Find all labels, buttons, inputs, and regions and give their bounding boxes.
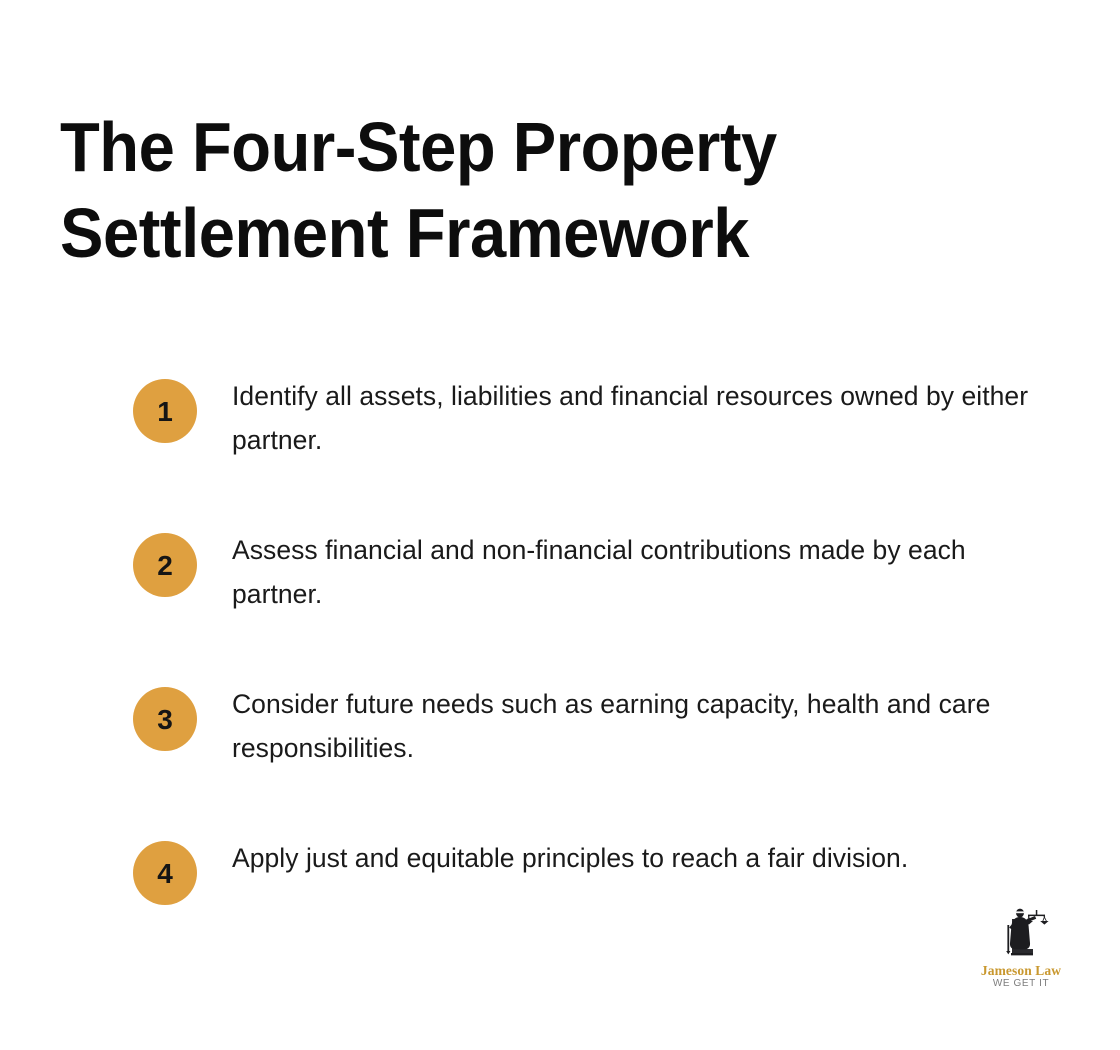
- title-block: The Four-Step Property Settlement Framew…: [60, 104, 880, 276]
- step-number-label: 1: [157, 398, 173, 426]
- steps-list: 1 Identify all assets, liabilities and f…: [133, 372, 1063, 905]
- step-description: Assess financial and non-financial contr…: [232, 526, 1063, 616]
- logo-tagline: WE GET IT: [975, 978, 1067, 990]
- step-description: Apply just and equitable principles to r…: [232, 834, 1063, 880]
- brand-logo: Jameson Law WE GET IT: [975, 905, 1067, 990]
- logo-wordmark: Jameson Law: [975, 963, 1067, 978]
- page-title: The Four-Step Property Settlement Framew…: [60, 104, 823, 276]
- list-item: 4 Apply just and equitable principles to…: [133, 834, 1063, 905]
- step-number-badge: 4: [133, 841, 197, 905]
- step-number-badge: 2: [133, 533, 197, 597]
- step-number-badge: 1: [133, 379, 197, 443]
- step-number-badge: 3: [133, 687, 197, 751]
- lady-justice-scales-icon: [990, 905, 1052, 961]
- step-number-label: 2: [157, 552, 173, 580]
- step-description: Consider future needs such as earning ca…: [232, 680, 1063, 770]
- list-item: 3 Consider future needs such as earning …: [133, 680, 1063, 770]
- list-item: 2 Assess financial and non-financial con…: [133, 526, 1063, 616]
- step-number-label: 3: [157, 706, 173, 734]
- step-number-label: 4: [157, 860, 173, 888]
- step-description: Identify all assets, liabilities and fin…: [232, 372, 1063, 462]
- list-item: 1 Identify all assets, liabilities and f…: [133, 372, 1063, 462]
- infographic-canvas: The Four-Step Property Settlement Framew…: [0, 0, 1120, 1050]
